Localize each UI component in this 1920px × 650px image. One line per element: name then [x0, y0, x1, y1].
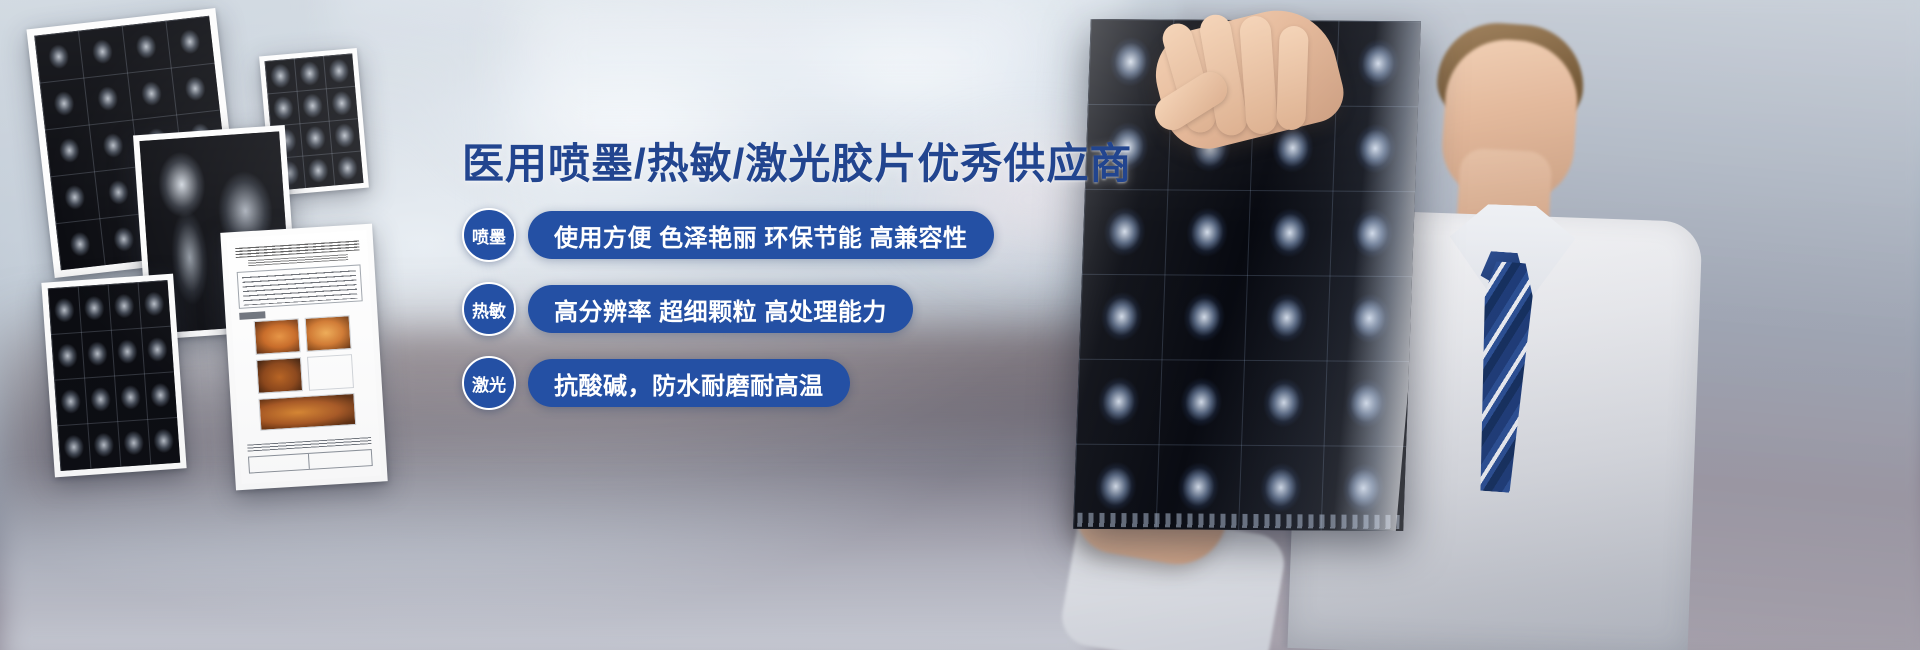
- fundus-image: [254, 318, 301, 355]
- feature-tag-laser: 激光: [462, 356, 516, 410]
- report-signature-table: [248, 449, 372, 474]
- report-page: [227, 230, 382, 484]
- feature-text-thermal: 高分辨率 超细颗粒 高处理能力: [528, 285, 913, 333]
- report-section-label: [240, 311, 266, 320]
- report-subtitle: [248, 254, 349, 266]
- fundus-image: [304, 315, 351, 352]
- film-plate: [48, 280, 180, 471]
- film-sheet-medical-report: [220, 224, 387, 491]
- report-text-block: [237, 265, 362, 309]
- fundus-image: [307, 354, 354, 391]
- feature-tag-inkjet: 喷墨: [462, 208, 516, 262]
- fundus-image: [256, 357, 303, 394]
- banner-headline: 医用喷墨/热敏/激光胶片优秀供应商: [462, 142, 1082, 186]
- feature-text-inkjet: 使用方便 色泽艳丽 环保节能 高兼容性: [528, 211, 994, 259]
- film-sheet-brain-axial: [41, 274, 186, 478]
- feature-row-laser: 激光 抗酸碱，防水耐磨耐高温: [462, 356, 1082, 410]
- mri-grid-lines: [48, 280, 180, 471]
- feature-list: 喷墨 使用方便 色泽艳丽 环保节能 高兼容性 热敏 高分辨率 超细颗粒 高处理能…: [462, 208, 1082, 410]
- finger: [1276, 26, 1309, 131]
- film-sheet-collage: [0, 0, 430, 520]
- doctor-photo: [1040, 0, 1920, 650]
- feature-row-thermal: 热敏 高分辨率 超细颗粒 高处理能力: [462, 282, 1082, 336]
- feature-text-laser: 抗酸碱，防水耐磨耐高温: [528, 359, 850, 407]
- fundus-image-wide: [259, 393, 356, 431]
- feature-row-inkjet: 喷墨 使用方便 色泽艳丽 环保节能 高兼容性: [462, 208, 1082, 262]
- banner-content: 医用喷墨/热敏/激光胶片优秀供应商 喷墨 使用方便 色泽艳丽 环保节能 高兼容性…: [462, 142, 1082, 430]
- feature-tag-thermal: 热敏: [462, 282, 516, 336]
- hero-banner: 医用喷墨/热敏/激光胶片优秀供应商 喷墨 使用方便 色泽艳丽 环保节能 高兼容性…: [0, 0, 1920, 650]
